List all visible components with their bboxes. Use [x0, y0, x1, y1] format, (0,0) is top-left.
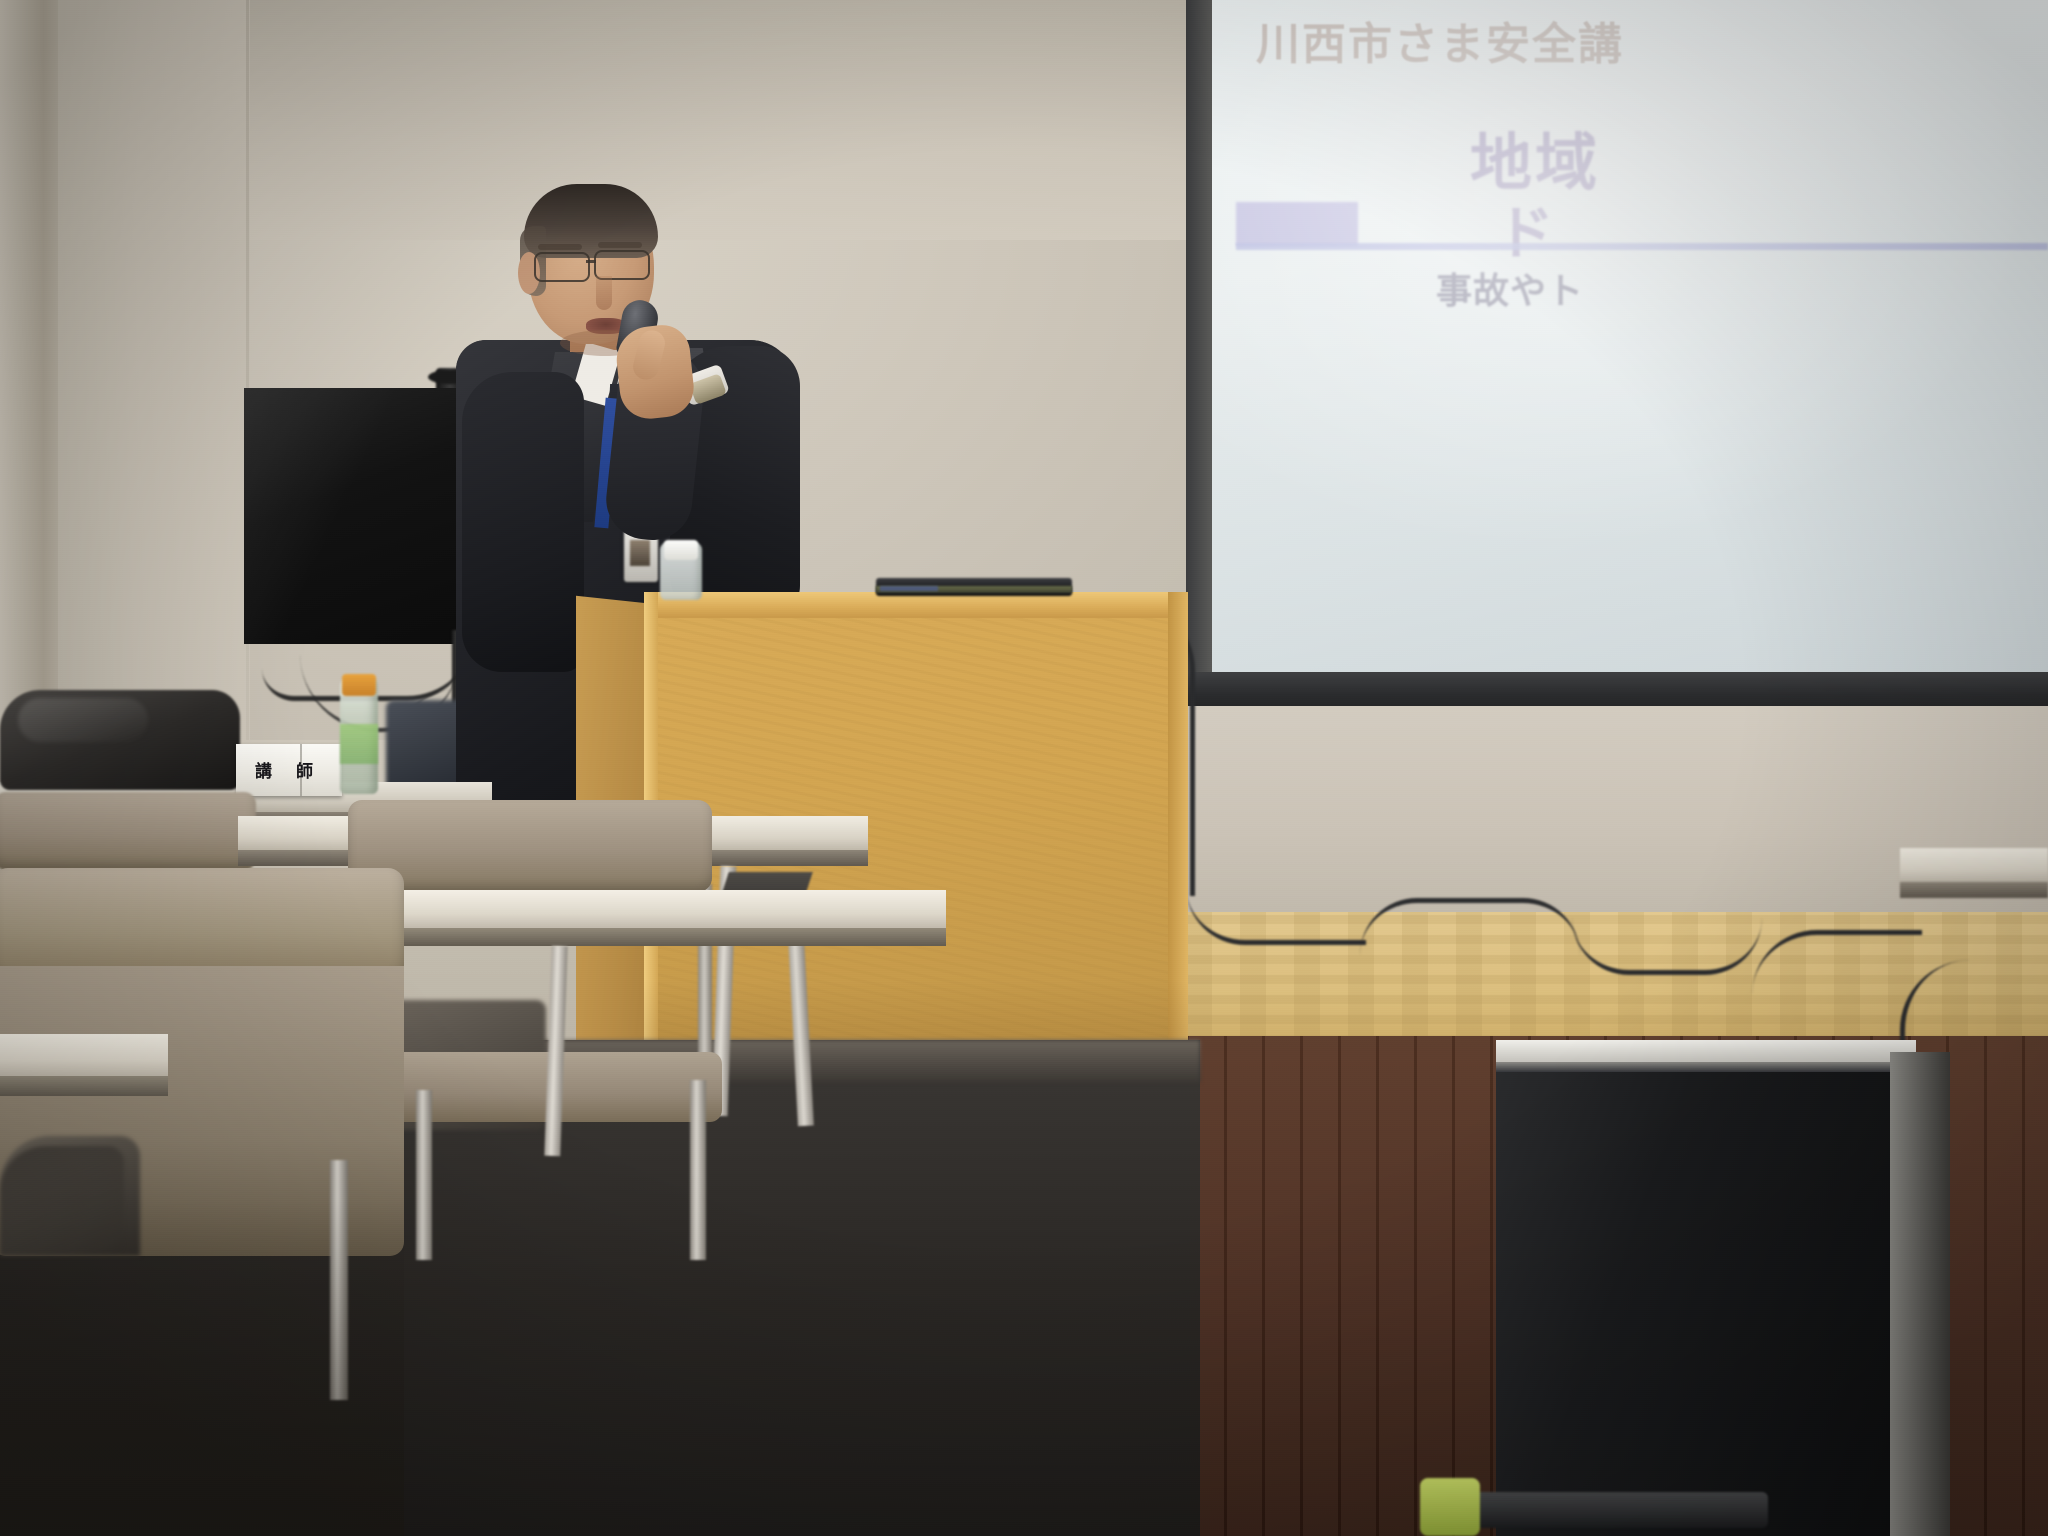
nameplate-char-2: 師	[296, 757, 323, 782]
projector-unit	[1496, 1040, 1916, 1536]
water-bottle-cap	[664, 540, 698, 560]
front-table-edge	[326, 928, 946, 946]
green-marker-object	[1420, 1478, 1480, 1536]
green-tea-bottle-label	[340, 724, 378, 764]
projector-unit-rim	[1496, 1062, 1916, 1072]
front-left-table-edge	[0, 1076, 168, 1096]
id-badge-photo	[630, 540, 650, 566]
chair-middle-leg-right	[690, 1080, 706, 1260]
right-table-edge	[1900, 882, 2048, 898]
eyebrow-left	[538, 244, 582, 250]
projection-light-falloff	[1212, 0, 2048, 680]
chair-back-left	[0, 792, 256, 870]
laptop-label-strip	[880, 586, 938, 591]
front-left-table	[0, 1034, 168, 1082]
chair-bottom-left-shade	[0, 1146, 124, 1254]
projection-screen-left-edge	[1186, 0, 1212, 710]
projector-unit-side	[1890, 1052, 1950, 1536]
eyebrow-right	[598, 242, 642, 248]
nameplate-char-1: 講	[255, 757, 282, 782]
eyeglasses-left-lens	[534, 252, 590, 282]
microphone-cable-segment	[1572, 918, 1762, 975]
presenter-left-arm	[462, 372, 584, 672]
nose	[596, 276, 612, 310]
projection-screen-bottom-bar	[1186, 672, 2048, 710]
nameplate-label: 講 師	[236, 756, 342, 782]
microphone-cable-segment	[1360, 898, 1580, 955]
green-tea-bottle-cap	[342, 674, 376, 696]
left-curtain	[0, 0, 58, 760]
microphone-cable-segment	[1186, 886, 1366, 945]
projector-cable-bar	[1468, 1492, 1768, 1528]
black-bag-highlight	[18, 698, 148, 742]
eyeglasses-bridge	[586, 260, 596, 263]
seminar-room-photo: 川西市さま安全講 地域 ド 事故やト	[0, 0, 2048, 1536]
chair-middle-leg-left	[416, 1090, 432, 1260]
